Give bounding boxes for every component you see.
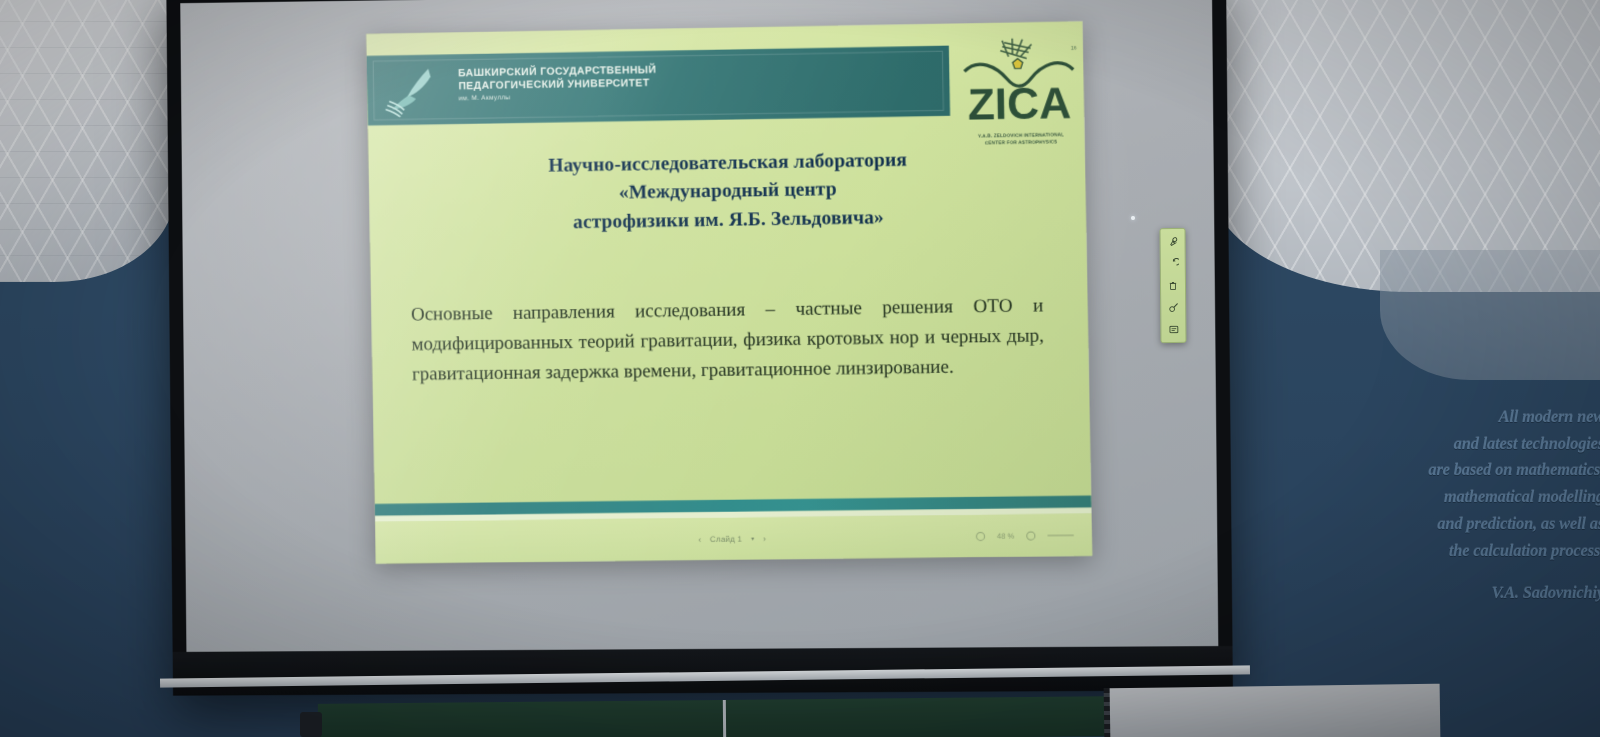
status-bar-right-controls: 48 % xyxy=(976,530,1074,540)
wall-quote-line: All modern new xyxy=(1354,404,1600,431)
university-logo-icon xyxy=(385,64,447,117)
university-name: БАШКИРСКИЙ ГОСУДАРСТВЕННЫЙ ПЕДАГОГИЧЕСКИ… xyxy=(458,64,657,103)
powerpoint-status-bar: ‹ Слайд 1 ▾ › 48 % xyxy=(375,514,1092,564)
slide-body-text: Основные направления исследования – част… xyxy=(411,291,1045,390)
wall-quote-line: are based on mathematics, xyxy=(1354,457,1600,484)
wall-panel-right-lower xyxy=(1380,250,1600,380)
trash-icon[interactable] xyxy=(1164,278,1181,293)
pen-icon[interactable] xyxy=(1164,234,1181,249)
chevron-down-icon[interactable]: ▾ xyxy=(751,535,754,542)
university-name-line2: ПЕДАГОГИЧЕСКИЙ УНИВЕРСИТЕТ xyxy=(458,77,656,93)
wall-panel-left-shading xyxy=(0,0,175,282)
projection-screen-surface: БАШКИРСКИЙ ГОСУДАРСТВЕННЫЙ ПЕДАГОГИЧЕСКИ… xyxy=(180,0,1218,654)
next-slide-icon[interactable]: › xyxy=(763,534,766,543)
wall-panel-right xyxy=(1210,0,1600,292)
wall-quote: All modern new and latest technologies a… xyxy=(1354,404,1600,607)
undo-arrow-icon[interactable] xyxy=(1164,256,1181,271)
wall-quote-line: mathematical modelling xyxy=(1354,484,1600,511)
zica-logo-icon: ZICA xyxy=(956,25,1083,138)
equipment-mount xyxy=(300,712,322,737)
wall-quote-author: V.A. Sadovnichiy xyxy=(1354,580,1600,607)
laser-pointer-dot xyxy=(1131,216,1135,220)
slide-canvas: БАШКИРСКИЙ ГОСУДАРСТВЕННЫЙ ПЕДАГОГИЧЕСКИ… xyxy=(366,21,1092,564)
pointer-icon[interactable] xyxy=(1165,300,1182,315)
whiteboard-panel xyxy=(1110,684,1441,737)
slide-navigation[interactable]: ‹ Слайд 1 ▾ › xyxy=(698,534,766,544)
slide-header-band: БАШКИРСКИЙ ГОСУДАРСТВЕННЫЙ ПЕДАГОГИЧЕСКИ… xyxy=(367,46,951,126)
chalkboard xyxy=(318,696,1118,737)
notes-icon[interactable] xyxy=(976,531,985,540)
slide-number-label: Слайд 1 xyxy=(710,534,742,543)
slide-title: Научно-исследовательская лаборатория «Ме… xyxy=(408,144,1050,240)
zoom-level-label[interactable]: 48 % xyxy=(997,531,1014,540)
slide-corner-number: 16 xyxy=(1071,45,1077,51)
fit-to-window-icon[interactable] xyxy=(1026,531,1035,540)
previous-slide-icon[interactable]: ‹ xyxy=(698,535,701,544)
wall-quote-line: and prediction, as well as xyxy=(1354,511,1600,538)
presenter-toolbar[interactable] xyxy=(1159,228,1186,343)
zica-wordmark: ZICA xyxy=(967,79,1071,130)
lecture-hall-scene: All modern new and latest technologies a… xyxy=(0,0,1600,737)
slide-header: БАШКИРСКИЙ ГОСУДАРСТВЕННЫЙ ПЕДАГОГИЧЕСКИ… xyxy=(367,43,1085,125)
screen-icon[interactable] xyxy=(1165,322,1182,337)
wall-quote-line: and latest technologies xyxy=(1354,431,1600,458)
chalkboard-divider xyxy=(723,700,726,737)
zoom-slider[interactable] xyxy=(1048,534,1074,535)
wall-quote-line: the calculation process. xyxy=(1354,538,1600,565)
projection-screen-frame: БАШКИРСКИЙ ГОСУДАРСТВЕННЫЙ ПЕДАГОГИЧЕСКИ… xyxy=(166,0,1233,696)
projected-slide: БАШКИРСКИЙ ГОСУДАРСТВЕННЫЙ ПЕДАГОГИЧЕСКИ… xyxy=(366,21,1092,564)
